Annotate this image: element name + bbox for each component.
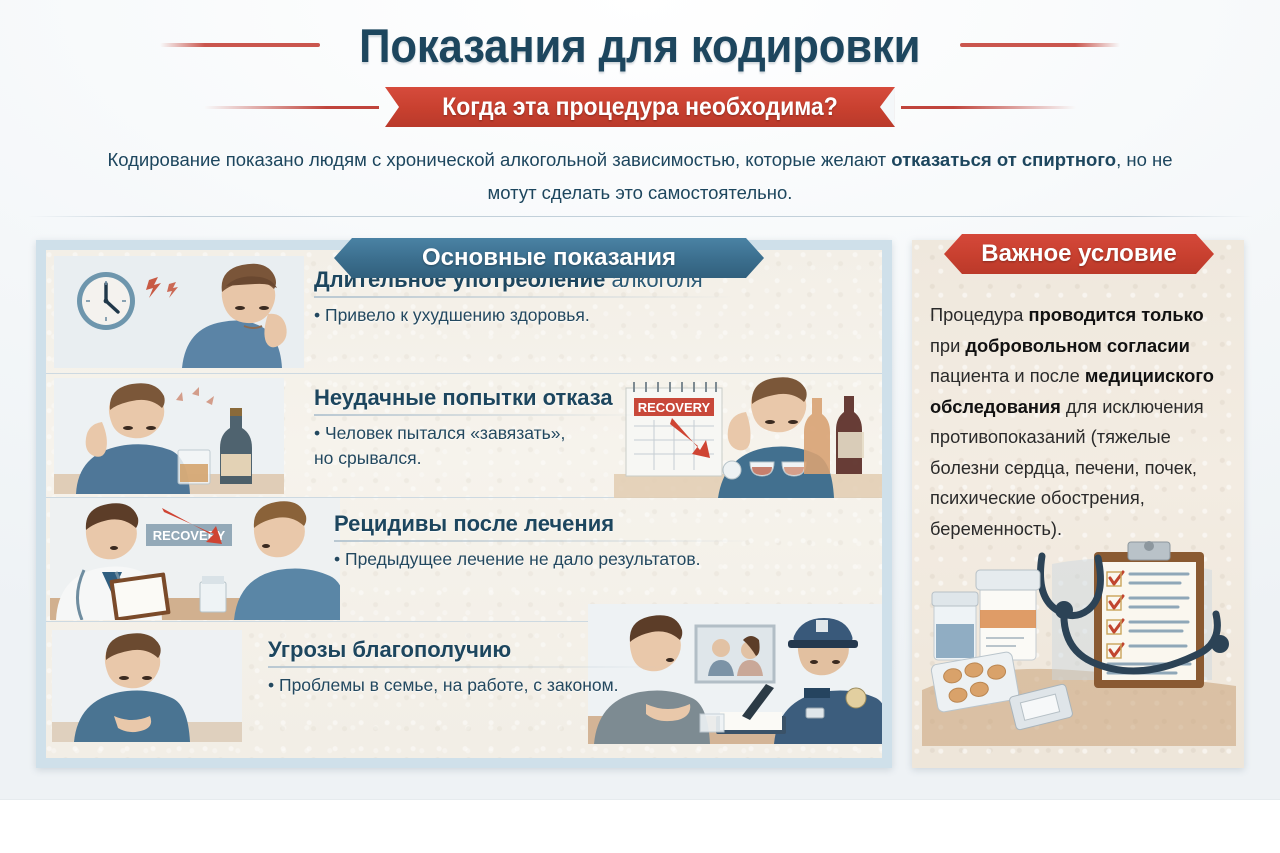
- framed-photo: [696, 626, 774, 682]
- stethoscope-earpiece: [1211, 635, 1229, 653]
- clipboard: [109, 572, 170, 620]
- indication-3-underline: [334, 540, 754, 542]
- important-condition-banner-label: Важное условие: [981, 240, 1176, 268]
- page-title: Показания для кодировки: [359, 22, 920, 69]
- intro-text-part-1: Кодирование показано людям с хронической…: [107, 149, 891, 170]
- ribbon-rule-left: [204, 106, 379, 109]
- intro-paragraph: Кодирование показано людям с хронической…: [60, 143, 1220, 209]
- title-row: Показания для кодировки: [0, 14, 1280, 76]
- illustration-man-alone: [52, 630, 242, 742]
- indication-2-underline: [314, 414, 644, 416]
- header-divider: [28, 216, 1252, 217]
- pill-bottle-small: [932, 592, 978, 660]
- subtitle-ribbon: Когда эта процедура необходима?: [385, 87, 895, 127]
- police-badge-icon: [846, 688, 866, 708]
- header: Показания для кодировки Когда эта процед…: [0, 0, 1280, 218]
- note-part-3: добровольном согласии: [965, 335, 1189, 356]
- calendar-recovery-label: RECOVERY: [638, 400, 711, 415]
- pill-bottle-large: [976, 570, 1040, 660]
- illustration-medical-supplies: [912, 540, 1244, 768]
- indication-4-underline: [268, 666, 668, 668]
- intro-text-part-3: мотут сделать это самостоятельно.: [488, 182, 793, 203]
- indication-4-bullet: • Проблемы в семье, на работе, с законом…: [268, 673, 668, 698]
- water-glass: [700, 714, 724, 732]
- indication-row-2: Неудачные попытки отказа • Человек пытал…: [46, 373, 882, 497]
- note-part-2: при: [930, 335, 965, 356]
- main-indications-inner: Длительное употребление алкоголя • Приве…: [46, 250, 882, 758]
- important-condition-text: Процедура проводится только при добровол…: [930, 300, 1230, 544]
- intro-text-part-2: , но не: [1116, 149, 1172, 170]
- wristwatch-icon: [806, 708, 824, 718]
- indication-1-underline: [314, 296, 734, 298]
- indication-3-bullet: • Предыдущее лечение не дало результатов…: [334, 547, 754, 572]
- infographic-page: Показания для кодировки Когда эта процед…: [0, 0, 1280, 853]
- main-indications-banner-label: Основные показания: [422, 244, 676, 272]
- pill-bottle: [200, 576, 226, 612]
- indication-3-title: Рецидивы после лечения: [334, 512, 754, 536]
- indication-1-bullet: • Привело к ухудшению здоровья.: [314, 303, 734, 328]
- indication-2-bullet: • Человек пытался «завязать»,: [314, 421, 644, 446]
- illustration-tired-man-with-clock: [54, 256, 304, 368]
- illustration-calendar-recovery: RECOVERY: [614, 366, 882, 498]
- important-condition-banner: Важное условие: [944, 234, 1214, 274]
- content-columns: Длительное употребление алкоголя • Приве…: [0, 232, 1280, 792]
- illustration-doctor-patient: RECOVERY: [50, 498, 340, 620]
- indication-2-bullet-line2: но срывался.: [314, 446, 644, 471]
- indication-row-3: RECOVERY: [46, 497, 882, 621]
- title-rule-right: [960, 43, 1120, 47]
- wine-glasses: [723, 461, 806, 479]
- intro-text-emphasis: отказаться от спиртного: [891, 149, 1116, 170]
- note-part-4: пациента и после: [930, 365, 1085, 386]
- stethoscope-chestpiece: [1055, 601, 1073, 619]
- title-rule-left: [160, 43, 320, 47]
- indication-4-title: Угрозы благополучию: [268, 638, 668, 662]
- note-part-0: Процедура: [930, 304, 1029, 325]
- important-condition-panel: Процедура проводится только при добровол…: [912, 240, 1244, 768]
- indication-row-4: Угрозы благополучию • Проблемы в семье, …: [46, 621, 882, 745]
- bottom-whitespace: [0, 800, 1280, 853]
- note-part-1: проводится только: [1029, 304, 1204, 325]
- main-indications-panel: Длительное употребление алкоголя • Приве…: [36, 240, 892, 768]
- main-indications-banner: Основные показания: [334, 238, 764, 278]
- clock-icon: [77, 272, 135, 330]
- ribbon-rule-right: [901, 106, 1076, 109]
- bottles: [804, 396, 864, 474]
- illustration-man-with-bottle: [54, 378, 284, 494]
- subtitle-ribbon-label: Когда эта процедура необходима?: [442, 93, 838, 122]
- ribbon-row: Когда эта процедура необходима?: [0, 86, 1280, 128]
- indication-2-title: Неудачные попытки отказа: [314, 386, 644, 410]
- glass-of-drink: [178, 450, 210, 484]
